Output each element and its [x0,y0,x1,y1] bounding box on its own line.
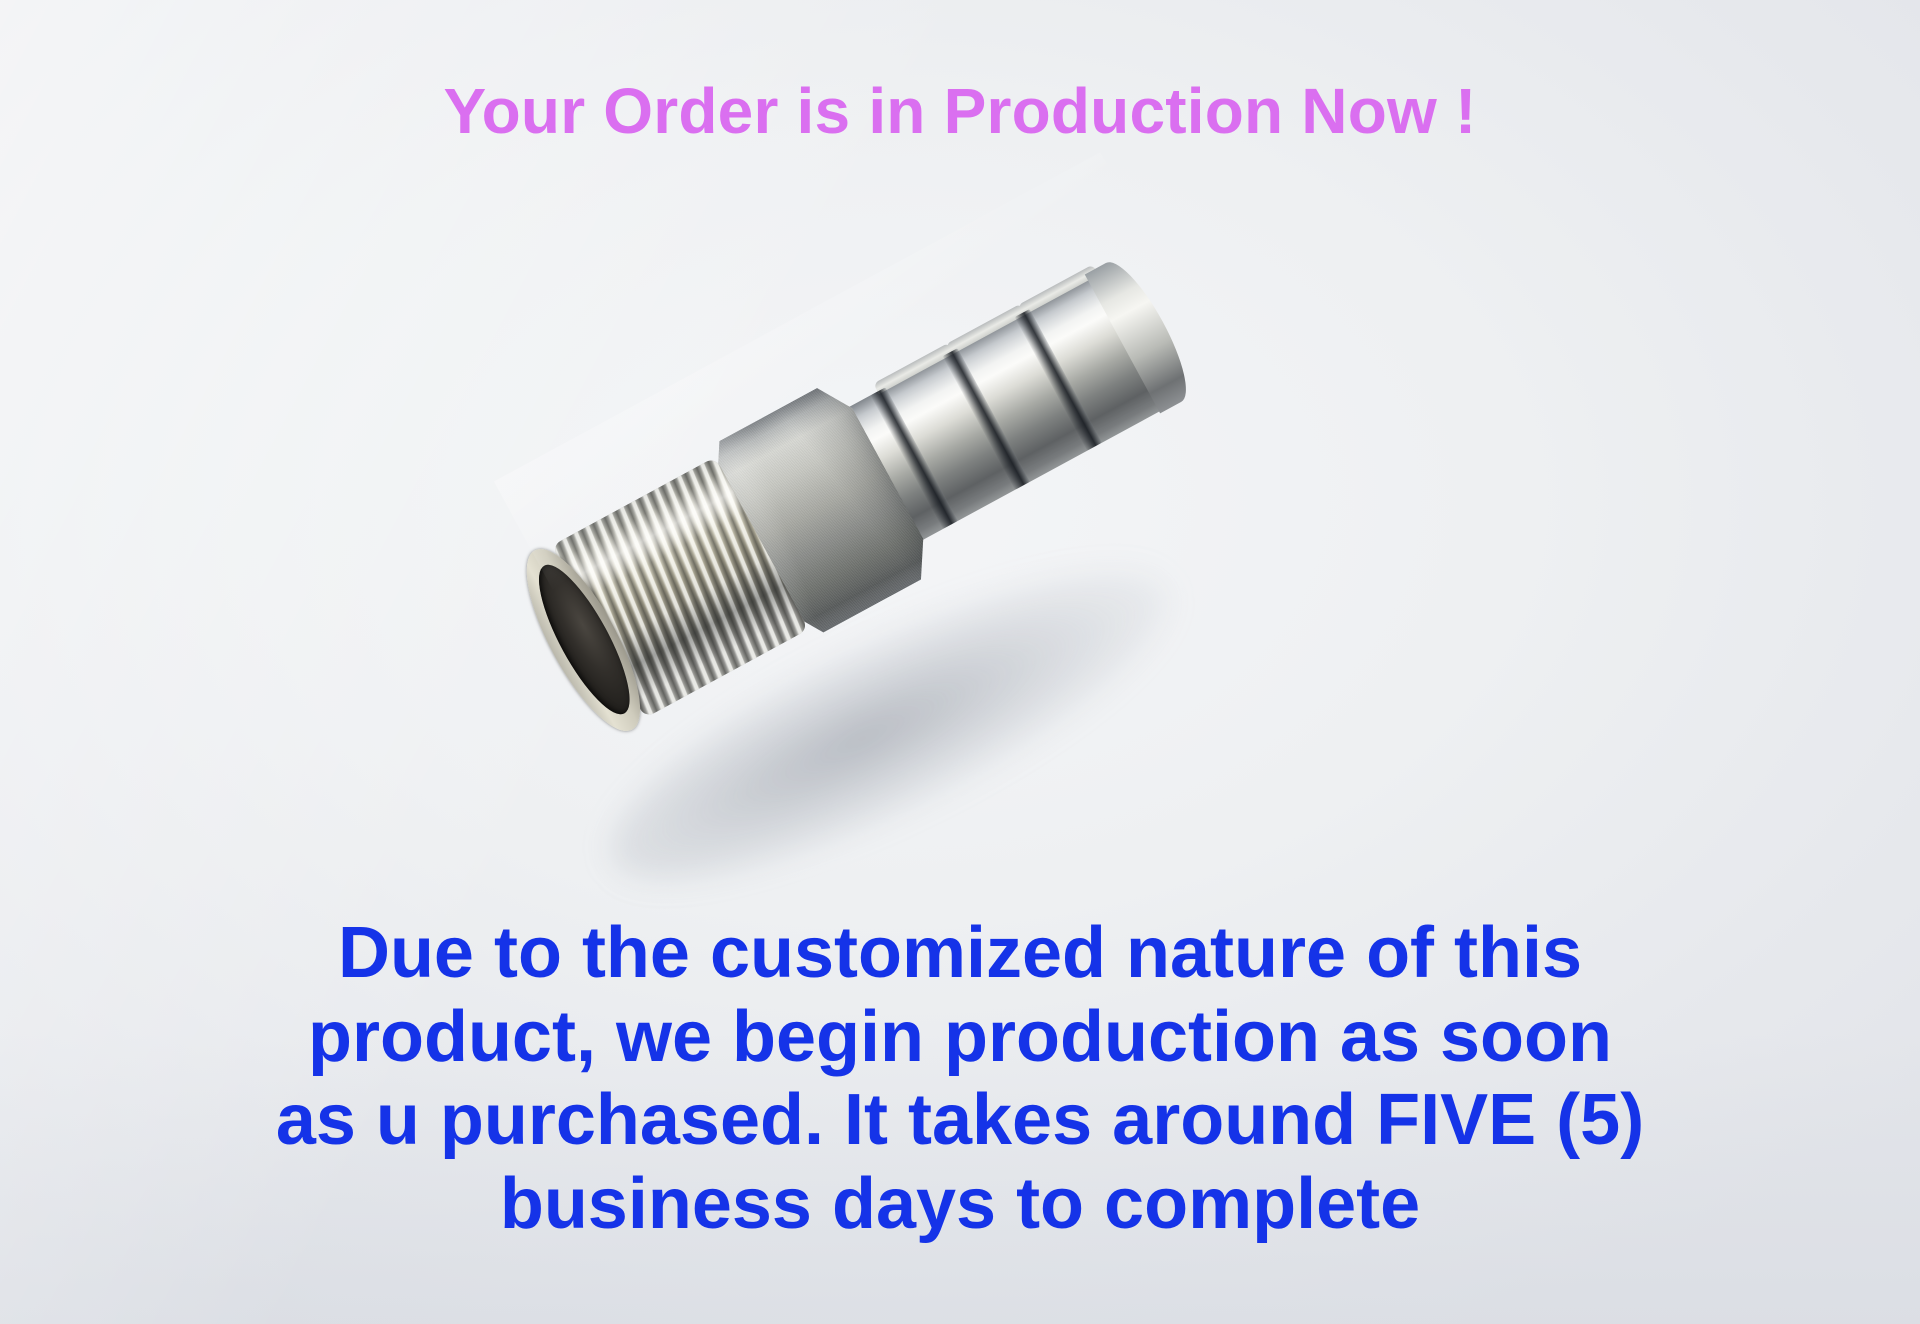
notice-line: as u purchased. It takes around FIVE (5) [0,1079,1920,1163]
barb-step [873,343,954,395]
barb-groove [1015,309,1102,451]
notice-line: business days to complete [0,1163,1920,1247]
production-notice: Due to the customized nature of this pro… [0,912,1920,1246]
page-title: Your Order is in Production Now ! [0,74,1920,148]
notice-line: product, we begin production as soon [0,996,1920,1080]
notice-line: Due to the customized nature of this [0,912,1920,996]
barb-groove [943,348,1030,490]
notice-image-canvas: Your Order is in Production Now ! 304 [0,0,1920,1324]
barb-step [945,303,1026,355]
